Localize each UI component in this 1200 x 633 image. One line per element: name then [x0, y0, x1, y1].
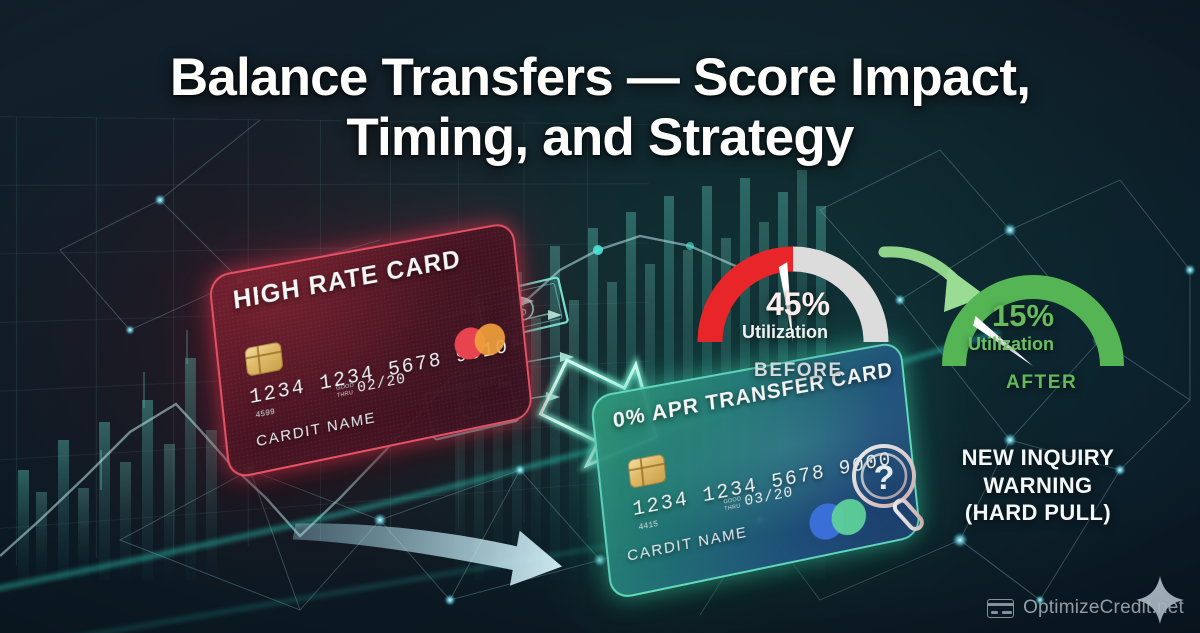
page-title: Balance Transfers — Score Impact, Timing…: [0, 48, 1200, 169]
inquiry-warning: NEW INQUIRY WARNING (HARD PULL): [932, 444, 1144, 527]
gauge-before-state: BEFORE: [754, 360, 843, 382]
svg-text:?: ?: [874, 459, 895, 497]
inquiry-warning-line-3: (HARD PULL): [932, 499, 1144, 527]
emv-chip-icon: [244, 341, 283, 376]
transfer-card-cvv: 4415: [638, 520, 658, 533]
gauge-after-metric: Utilization: [968, 334, 1054, 355]
watermark-text: OptimizeCredit.net: [1023, 597, 1184, 619]
gauge-before-metric: Utilization: [742, 322, 828, 343]
inquiry-warning-line-2: WARNING: [932, 472, 1144, 500]
emv-chip-icon: [627, 454, 666, 489]
utilization-gauge-before: 45% Utilization BEFORE: [694, 232, 892, 392]
high-rate-card-expiry-label: GOODTHRU: [336, 383, 355, 400]
title-line-2: Timing, and Strategy: [0, 108, 1200, 168]
solid-arrow-icon: [291, 492, 567, 594]
high-rate-card-cvv: 4599: [255, 408, 275, 421]
infographic-canvas: $ $: [0, 0, 1200, 633]
utilization-gauge-after: 15% Utilization AFTER: [940, 262, 1126, 412]
transfer-card-expiry-label: GOODTHRU: [723, 496, 742, 513]
inquiry-warning-line-1: NEW INQUIRY: [932, 444, 1144, 472]
gauge-after-value: 15%: [992, 298, 1054, 334]
title-line-1: Balance Transfers — Score Impact,: [170, 48, 1030, 107]
gauge-after-state: AFTER: [1006, 372, 1077, 394]
credit-card-icon: [987, 599, 1014, 618]
background-bars-left: [18, 330, 217, 580]
watermark[interactable]: OptimizeCredit.net: [987, 597, 1184, 619]
magnifier-question-icon: ?: [848, 440, 934, 538]
gauge-before-value: 45%: [766, 286, 830, 323]
